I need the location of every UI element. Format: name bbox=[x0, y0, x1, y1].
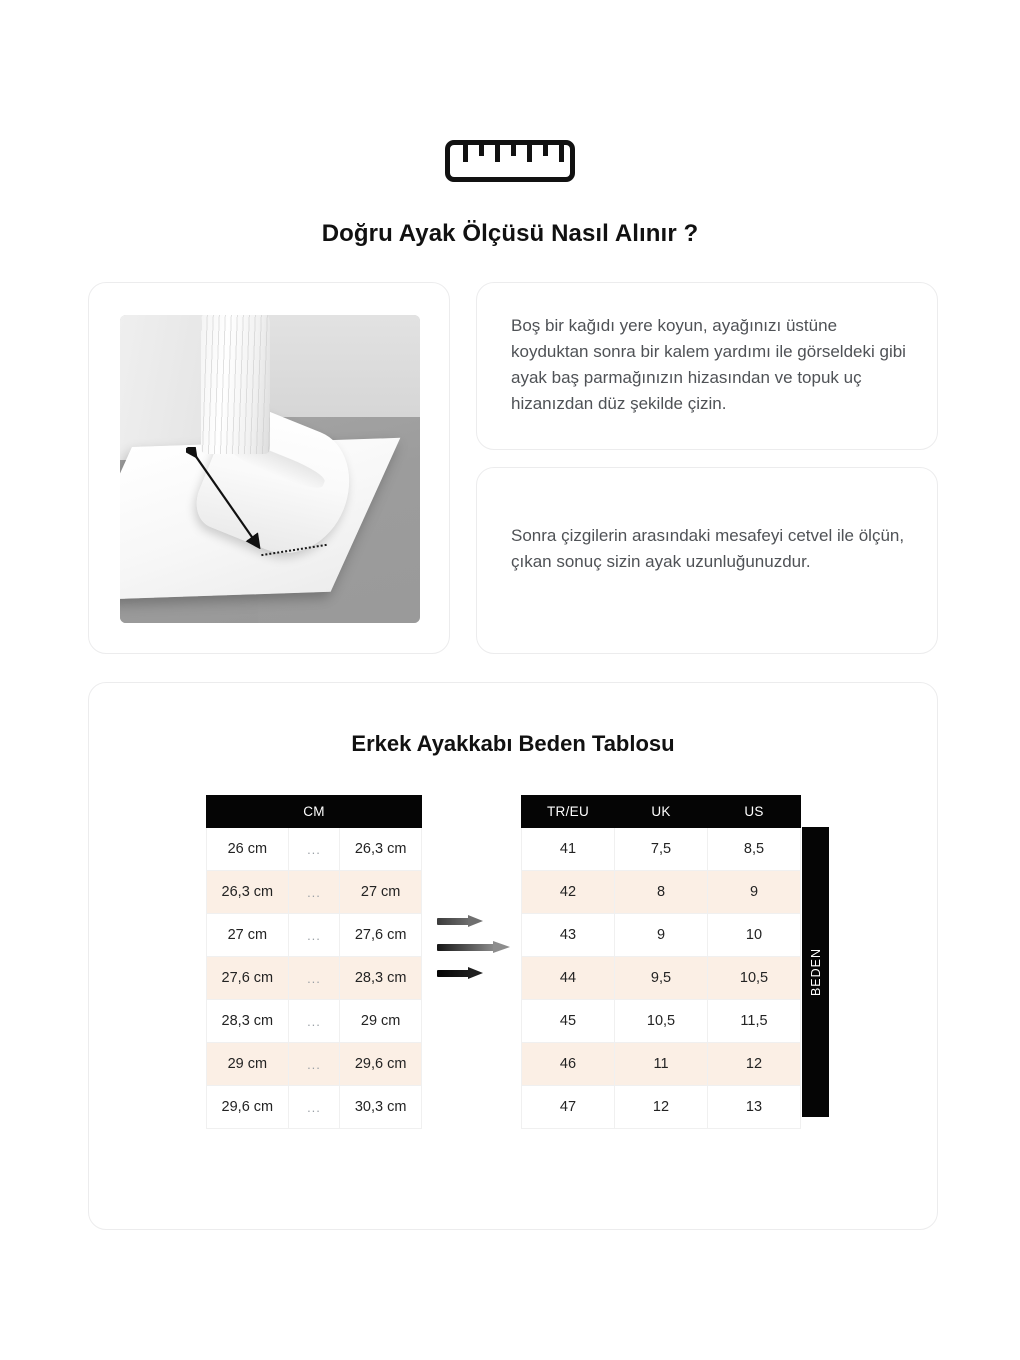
header-us: US bbox=[708, 796, 801, 828]
cm-to: 29 cm bbox=[340, 1000, 422, 1043]
table-row: 26 cm ... 26,3 cm bbox=[207, 828, 422, 871]
instruction-text-2: Sonra çizgilerin arasındaki mesafeyi cet… bbox=[511, 523, 909, 575]
cm-from: 27,6 cm bbox=[207, 957, 289, 1000]
triple-arrow-right-icon bbox=[437, 907, 511, 997]
cm-dots: ... bbox=[288, 828, 340, 871]
cm-to: 30,3 cm bbox=[340, 1086, 422, 1129]
cm-to: 29,6 cm bbox=[340, 1043, 422, 1086]
beden-vertical-label: BEDEN bbox=[802, 827, 829, 1117]
cm-header: CM bbox=[207, 796, 422, 828]
cell-tr-eu: 41 bbox=[522, 828, 615, 871]
header-tr-eu: TR/EU bbox=[522, 796, 615, 828]
size-tables: CM 26 cm ... 26,3 cm 26,3 cm ... 27 cm bbox=[89, 795, 937, 1135]
cm-to: 28,3 cm bbox=[340, 957, 422, 1000]
cell-uk: 9 bbox=[615, 914, 708, 957]
size-table-body: 41 7,5 8,5 42 8 9 43 9 10 bbox=[522, 828, 801, 1129]
cell-uk: 8 bbox=[615, 871, 708, 914]
cm-dots: ... bbox=[288, 914, 340, 957]
cm-from: 28,3 cm bbox=[207, 1000, 289, 1043]
size-table-title: Erkek Ayakkabı Beden Tablosu bbox=[89, 731, 937, 757]
cell-tr-eu: 45 bbox=[522, 1000, 615, 1043]
instruction-card-1: Boş bir kağıdı yere koyun, ayağınızı üst… bbox=[476, 282, 938, 450]
cell-uk: 7,5 bbox=[615, 828, 708, 871]
table-row: 43 9 10 bbox=[522, 914, 801, 957]
table-row: 41 7,5 8,5 bbox=[522, 828, 801, 871]
cm-to: 27,6 cm bbox=[340, 914, 422, 957]
table-row: 28,3 cm ... 29 cm bbox=[207, 1000, 422, 1043]
cell-tr-eu: 47 bbox=[522, 1086, 615, 1129]
cm-from: 27 cm bbox=[207, 914, 289, 957]
cell-us: 8,5 bbox=[708, 828, 801, 871]
cell-uk: 10,5 bbox=[615, 1000, 708, 1043]
cell-tr-eu: 46 bbox=[522, 1043, 615, 1086]
cm-from: 29,6 cm bbox=[207, 1086, 289, 1129]
table-row: 29 cm ... 29,6 cm bbox=[207, 1043, 422, 1086]
table-row: 26,3 cm ... 27 cm bbox=[207, 871, 422, 914]
cm-from: 26,3 cm bbox=[207, 871, 289, 914]
instruction-card-2: Sonra çizgilerin arasındaki mesafeyi cet… bbox=[476, 467, 938, 654]
cell-us: 10 bbox=[708, 914, 801, 957]
instruction-text-1: Boş bir kağıdı yere koyun, ayağınızı üst… bbox=[511, 313, 909, 417]
table-row: 27 cm ... 27,6 cm bbox=[207, 914, 422, 957]
ruler-icon bbox=[445, 140, 575, 182]
cm-dots: ... bbox=[288, 871, 340, 914]
table-row: 27,6 cm ... 28,3 cm bbox=[207, 957, 422, 1000]
header-uk: UK bbox=[615, 796, 708, 828]
cell-uk: 9,5 bbox=[615, 957, 708, 1000]
arrow-3 bbox=[437, 967, 483, 980]
arrow-1 bbox=[437, 915, 483, 928]
table-row: 44 9,5 10,5 bbox=[522, 957, 801, 1000]
table-row: 29,6 cm ... 30,3 cm bbox=[207, 1086, 422, 1129]
table-row: 46 11 12 bbox=[522, 1043, 801, 1086]
size-table-card: Erkek Ayakkabı Beden Tablosu CM 26 cm ..… bbox=[88, 682, 938, 1230]
foot-measurement-photo bbox=[120, 315, 420, 623]
cell-us: 11,5 bbox=[708, 1000, 801, 1043]
cm-from: 29 cm bbox=[207, 1043, 289, 1086]
cm-table: CM 26 cm ... 26,3 cm 26,3 cm ... 27 cm bbox=[206, 795, 422, 1129]
arrow-2 bbox=[437, 941, 511, 954]
cell-tr-eu: 42 bbox=[522, 871, 615, 914]
cell-uk: 12 bbox=[615, 1086, 708, 1129]
cell-us: 13 bbox=[708, 1086, 801, 1129]
cm-to: 27 cm bbox=[340, 871, 422, 914]
cm-to: 26,3 cm bbox=[340, 828, 422, 871]
table-row: 42 8 9 bbox=[522, 871, 801, 914]
cell-us: 12 bbox=[708, 1043, 801, 1086]
size-table-header-row: TR/EU UK US bbox=[522, 796, 801, 828]
cm-dots: ... bbox=[288, 1043, 340, 1086]
size-conversion-table: TR/EU UK US 41 7,5 8,5 42 8 9 bbox=[521, 795, 801, 1129]
photo-card bbox=[88, 282, 450, 654]
measurement-arrow-icon bbox=[186, 447, 276, 549]
cell-uk: 11 bbox=[615, 1043, 708, 1086]
cell-us: 9 bbox=[708, 871, 801, 914]
cm-dots: ... bbox=[288, 957, 340, 1000]
cm-from: 26 cm bbox=[207, 828, 289, 871]
table-row: 47 12 13 bbox=[522, 1086, 801, 1129]
cell-tr-eu: 43 bbox=[522, 914, 615, 957]
cm-table-body: 26 cm ... 26,3 cm 26,3 cm ... 27 cm 27 c… bbox=[207, 828, 422, 1129]
cell-us: 10,5 bbox=[708, 957, 801, 1000]
cm-dots: ... bbox=[288, 1086, 340, 1129]
cm-dots: ... bbox=[288, 1000, 340, 1043]
cm-table-header-row: CM bbox=[207, 796, 422, 828]
page-title: Doğru Ayak Ölçüsü Nasıl Alınır ? bbox=[0, 220, 1020, 248]
ruler-icon-wrap bbox=[0, 140, 1020, 182]
table-row: 45 10,5 11,5 bbox=[522, 1000, 801, 1043]
cell-tr-eu: 44 bbox=[522, 957, 615, 1000]
size-guide-page: Doğru Ayak Ölçüsü Nasıl Alınır ? bbox=[0, 0, 1020, 1360]
beden-label-text: BEDEN bbox=[809, 948, 823, 996]
